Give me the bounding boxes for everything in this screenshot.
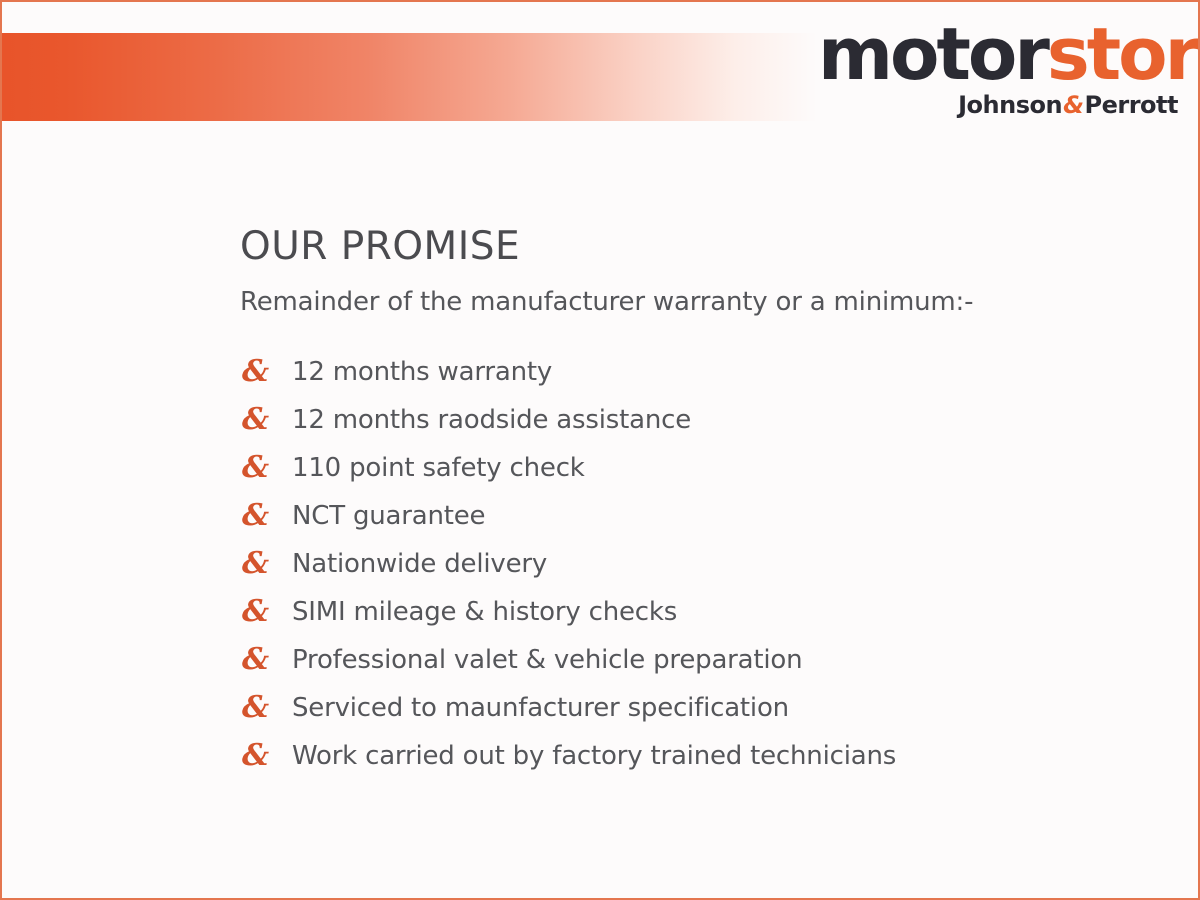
ampersand-bullet-icon: &: [240, 405, 292, 435]
list-item-label: SIMI mileage & history checks: [292, 598, 677, 627]
page-title: OUR PROMISE: [240, 227, 1140, 266]
list-item: & SIMI mileage & history checks: [240, 588, 1140, 636]
list-item: & 12 months warranty: [240, 348, 1140, 396]
promise-subtitle: Remainder of the manufacturer warranty o…: [240, 288, 1140, 318]
promise-slide: motorstore Johnson&Perrott OUR PROMISE R…: [0, 0, 1200, 900]
logo-sub-perrott: Perrott: [1085, 91, 1178, 119]
list-item-label: NCT guarantee: [292, 502, 485, 531]
logo-subtitle: Johnson&Perrott: [818, 93, 1178, 117]
header-gradient-bar: [0, 33, 817, 121]
ampersand-icon: &: [1062, 91, 1084, 119]
list-item-label: Work carried out by factory trained tech…: [292, 742, 896, 771]
ampersand-bullet-icon: &: [240, 645, 292, 675]
list-item: & 110 point safety check: [240, 444, 1140, 492]
ampersand-bullet-icon: &: [240, 741, 292, 771]
list-item: & Work carried out by factory trained te…: [240, 732, 1140, 780]
list-item: & 12 months raodside assistance: [240, 396, 1140, 444]
logo-sub-johnson: Johnson: [958, 91, 1062, 119]
logo-word-store: store: [1047, 12, 1200, 96]
ampersand-bullet-icon: &: [240, 693, 292, 723]
list-item: & Nationwide delivery: [240, 540, 1140, 588]
ampersand-bullet-icon: &: [240, 549, 292, 579]
ampersand-bullet-icon: &: [240, 501, 292, 531]
list-item-label: 12 months warranty: [292, 358, 552, 387]
list-item-label: Professional valet & vehicle preparation: [292, 646, 802, 675]
list-item-label: Nationwide delivery: [292, 550, 547, 579]
list-item-label: 110 point safety check: [292, 454, 585, 483]
slide-header: motorstore Johnson&Perrott: [2, 2, 1198, 132]
promise-content: OUR PROMISE Remainder of the manufacture…: [240, 227, 1140, 780]
list-item: & NCT guarantee: [240, 492, 1140, 540]
list-item-label: Serviced to maunfacturer specification: [292, 694, 789, 723]
list-item: & Professional valet & vehicle preparati…: [240, 636, 1140, 684]
brand-logo: motorstore Johnson&Perrott: [818, 20, 1178, 117]
ampersand-bullet-icon: &: [240, 357, 292, 387]
list-item: & Serviced to maunfacturer specification: [240, 684, 1140, 732]
logo-wordmark: motorstore: [818, 20, 1178, 89]
logo-word-motor: motor: [818, 12, 1047, 96]
list-item-label: 12 months raodside assistance: [292, 406, 691, 435]
ampersand-bullet-icon: &: [240, 453, 292, 483]
ampersand-bullet-icon: &: [240, 597, 292, 627]
promise-list: & 12 months warranty & 12 months raodsid…: [240, 348, 1140, 780]
